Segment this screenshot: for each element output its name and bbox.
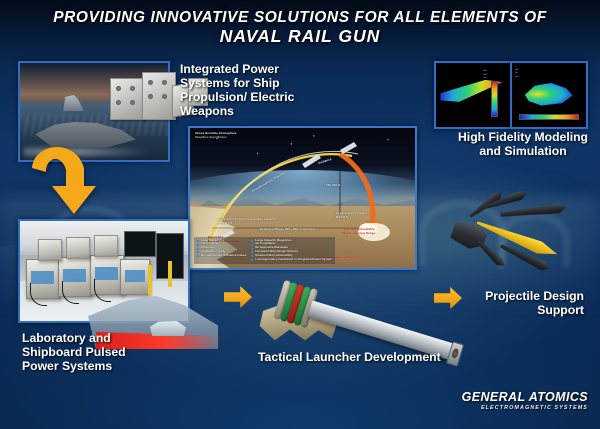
color-scale-bar: [491, 81, 498, 117]
label-above-atmosphere: Above Sensible Atmosphere Simplifies dec…: [195, 132, 237, 139]
caption-high-fidelity: High Fidelity Modeling and Simulation: [452, 130, 594, 158]
color-scale-bar-horizontal: [519, 114, 580, 120]
legend-column-right: Large Capacity Magazines No Propellants …: [251, 239, 332, 262]
safety-post: [148, 265, 152, 295]
legend-column-left: Long Range Time Critical Precision All W…: [197, 239, 246, 262]
slide-canvas: PROVIDING INNOVATIVE SOLUTIONS FOR ALL E…: [0, 0, 600, 429]
simulation-panel-projectile: ▪▪▪▪▪▪▪▪▪▪▪: [510, 61, 588, 129]
lab-rack: [94, 235, 118, 257]
caption-laboratory: Laboratory and Shipboard Pulsed Power Sy…: [22, 331, 148, 373]
title-line-1: PROVIDING INNOVATIVE SOLUTIONS FOR ALL E…: [0, 8, 600, 27]
launcher-muzzle: [446, 341, 464, 367]
caption-integrated-power: Integrated Power Systems for Ship Propul…: [180, 62, 300, 118]
caption-tactical-launcher: Tactical Launcher Development: [258, 350, 441, 364]
slide-title: PROVIDING INNOVATIVE SOLUTIONS FOR ALL E…: [0, 8, 600, 46]
trajectory-concept-graphic: Above Sensible Atmosphere Simplifies dec…: [188, 126, 417, 270]
benefits-legend: Long Range Time Critical Precision All W…: [194, 237, 335, 264]
safety-post: [168, 261, 172, 287]
lab-rack: [66, 237, 90, 259]
pulsed-power-cabinet: [120, 259, 150, 295]
label-altitude: 500,000 ft: [326, 184, 340, 188]
legend-item: No Unexploded Ordnance Issues: [197, 254, 246, 258]
title-line-2: NAVAL RAIL GUN: [0, 27, 600, 46]
label-launch: Hypervelocity Electromagnetic Launch MAC…: [218, 218, 275, 225]
projectile-flow-contour: [524, 80, 573, 108]
curved-arrow-icon: [26, 134, 104, 218]
logo-company-name: GENERAL ATOMICS: [462, 390, 588, 404]
sim-readout-text: ▪▪▪▪▪▪▪▪▪▪▪: [483, 69, 487, 79]
lab-dark-window: [124, 231, 156, 257]
simulation-panel-rail: ▪▪▪▪▪▪▪▪▪▪▪: [434, 61, 512, 129]
caption-projectile: Projectile Design Support: [450, 289, 584, 317]
general-atomics-logo: GENERAL ATOMICS ELECTROMAGNETIC SYSTEMS: [462, 390, 588, 411]
legend-item: Leverages Navy Investment in Integrated …: [251, 258, 332, 262]
label-targets: Fixed and Relocatable Targets at Long Ra…: [342, 228, 375, 235]
logo-division-name: ELECTROMAGNETIC SYSTEMS: [462, 405, 588, 411]
label-extended-range: Extended Range 200+ NM / 6 minutes: [260, 228, 315, 232]
label-impact: Hypervelocity Impact MACH 5: [336, 212, 367, 219]
lab-rack: [38, 239, 62, 261]
sim-readout-text: ▪▪▪▪▪▪▪▪▪▪▪: [515, 68, 519, 78]
